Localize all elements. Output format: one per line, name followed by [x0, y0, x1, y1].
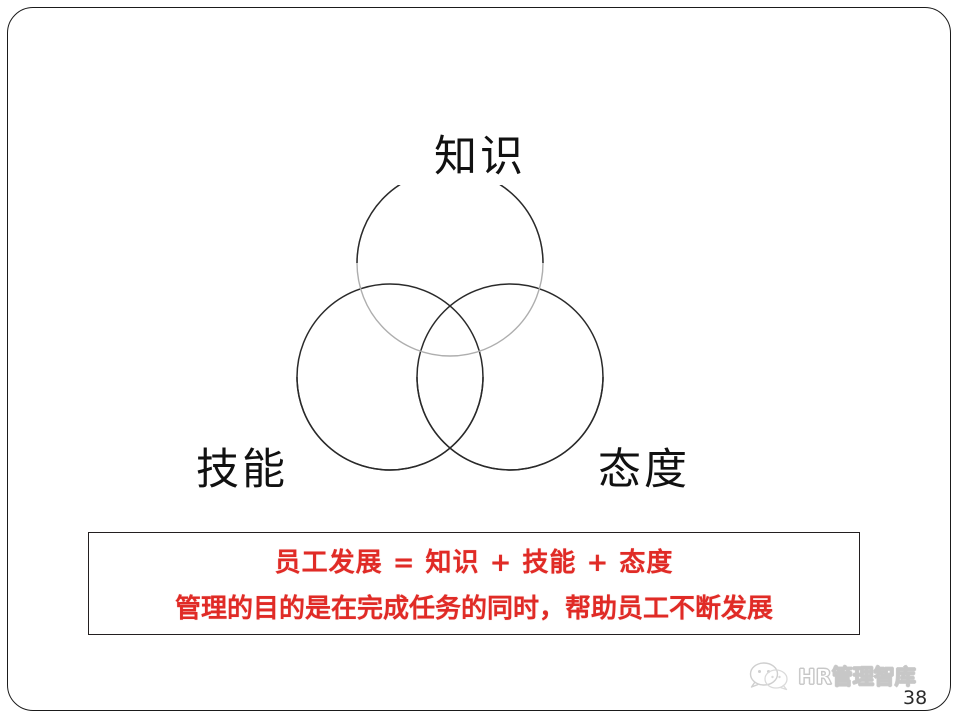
venn-label-attitude: 态度	[598, 435, 690, 497]
page-title: 员工生产力意味着什么？	[0, 34, 960, 87]
wechat-icon	[748, 661, 792, 691]
venn-circle-knowledge-faded	[357, 185, 543, 356]
venn-diagram	[290, 185, 610, 485]
venn-circle-skills	[297, 284, 483, 470]
venn-diagram-svg	[290, 185, 610, 485]
venn-circle-knowledge	[357, 185, 543, 263]
watermark: HR管理智库	[748, 661, 916, 691]
statement-line-purpose: 管理的目的是在完成任务的同时，帮助员工不断发展	[175, 588, 773, 625]
statement-box: 员工发展 = 知识 + 技能 + 态度 管理的目的是在完成任务的同时，帮助员工不…	[88, 532, 860, 635]
watermark-label: HR管理智库	[798, 661, 916, 691]
venn-circle-attitude	[417, 284, 603, 470]
slide-canvas: 员工生产力意味着什么？ 知识 技能 态度 员工发展 = 知识 + 技能 + 态度…	[0, 0, 960, 720]
page-number: 38	[903, 687, 927, 709]
venn-circle-attitude-lower	[417, 377, 603, 470]
statement-line-formula: 员工发展 = 知识 + 技能 + 态度	[275, 542, 674, 579]
venn-label-skills: 技能	[196, 435, 288, 497]
venn-circle-skills-lower	[297, 377, 483, 470]
venn-label-knowledge: 知识	[0, 122, 960, 184]
